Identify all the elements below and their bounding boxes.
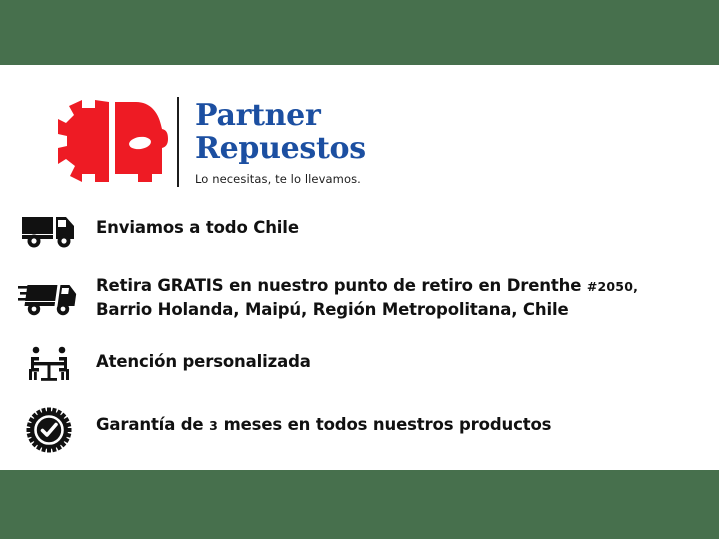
delivery-truck-icon — [18, 208, 80, 254]
feature-label-warranty-a: Garantía de — [96, 415, 209, 434]
feature-text-warranty: Garantía de 3 meses en todos nuestros pr… — [96, 405, 551, 437]
feature-text-pickup: Retira GRATIS en nuestro punto de retiro… — [96, 271, 638, 321]
feature-row-pickup: Retira GRATIS en nuestro punto de retiro… — [0, 271, 719, 327]
feature-label-warranty-b: meses en todos nuestros productos — [218, 415, 551, 434]
feature-text-attention: Atención personalizada — [96, 342, 311, 373]
feature-text-shipping: Enviamos a todo Chile — [96, 208, 299, 239]
people-at-table-icon — [18, 342, 80, 388]
brand-name-line1: Partner — [195, 99, 366, 132]
brand-name-line2: Repuestos — [195, 132, 366, 165]
moving-truck-icon — [18, 271, 80, 327]
feature-row-attention: Atención personalizada — [0, 342, 719, 390]
brand-text-block: Partner Repuestos Lo necesitas, te lo ll… — [195, 99, 366, 186]
top-green-band — [0, 0, 719, 65]
feature-row-warranty: Garantía de 3 meses en todos nuestros pr… — [0, 405, 719, 455]
feature-label-pickup-line2: Barrio Holanda, Maipú, Región Metropolit… — [96, 300, 569, 319]
gear-car-logo — [58, 96, 168, 188]
bottom-green-band — [0, 470, 719, 539]
brand-header: Partner Repuestos Lo necesitas, te lo ll… — [0, 88, 719, 196]
feature-row-shipping: Enviamos a todo Chile — [0, 208, 719, 256]
feature-list: Enviamos a todo Chile — [0, 208, 719, 470]
promo-banner: Partner Repuestos Lo necesitas, te lo ll… — [0, 0, 719, 539]
brand-divider — [177, 97, 179, 187]
feature-label-attention: Atención personalizada — [96, 352, 311, 371]
feature-label-pickup: Retira GRATIS en nuestro punto de retiro… — [96, 276, 587, 295]
feature-label-pickup-number: #2050, — [587, 279, 638, 294]
guarantee-badge-icon — [18, 405, 80, 455]
brand-tagline: Lo necesitas, te lo llevamos. — [195, 172, 366, 186]
feature-label-warranty-number: 3 — [209, 418, 218, 433]
feature-label-shipping: Enviamos a todo Chile — [96, 218, 299, 237]
